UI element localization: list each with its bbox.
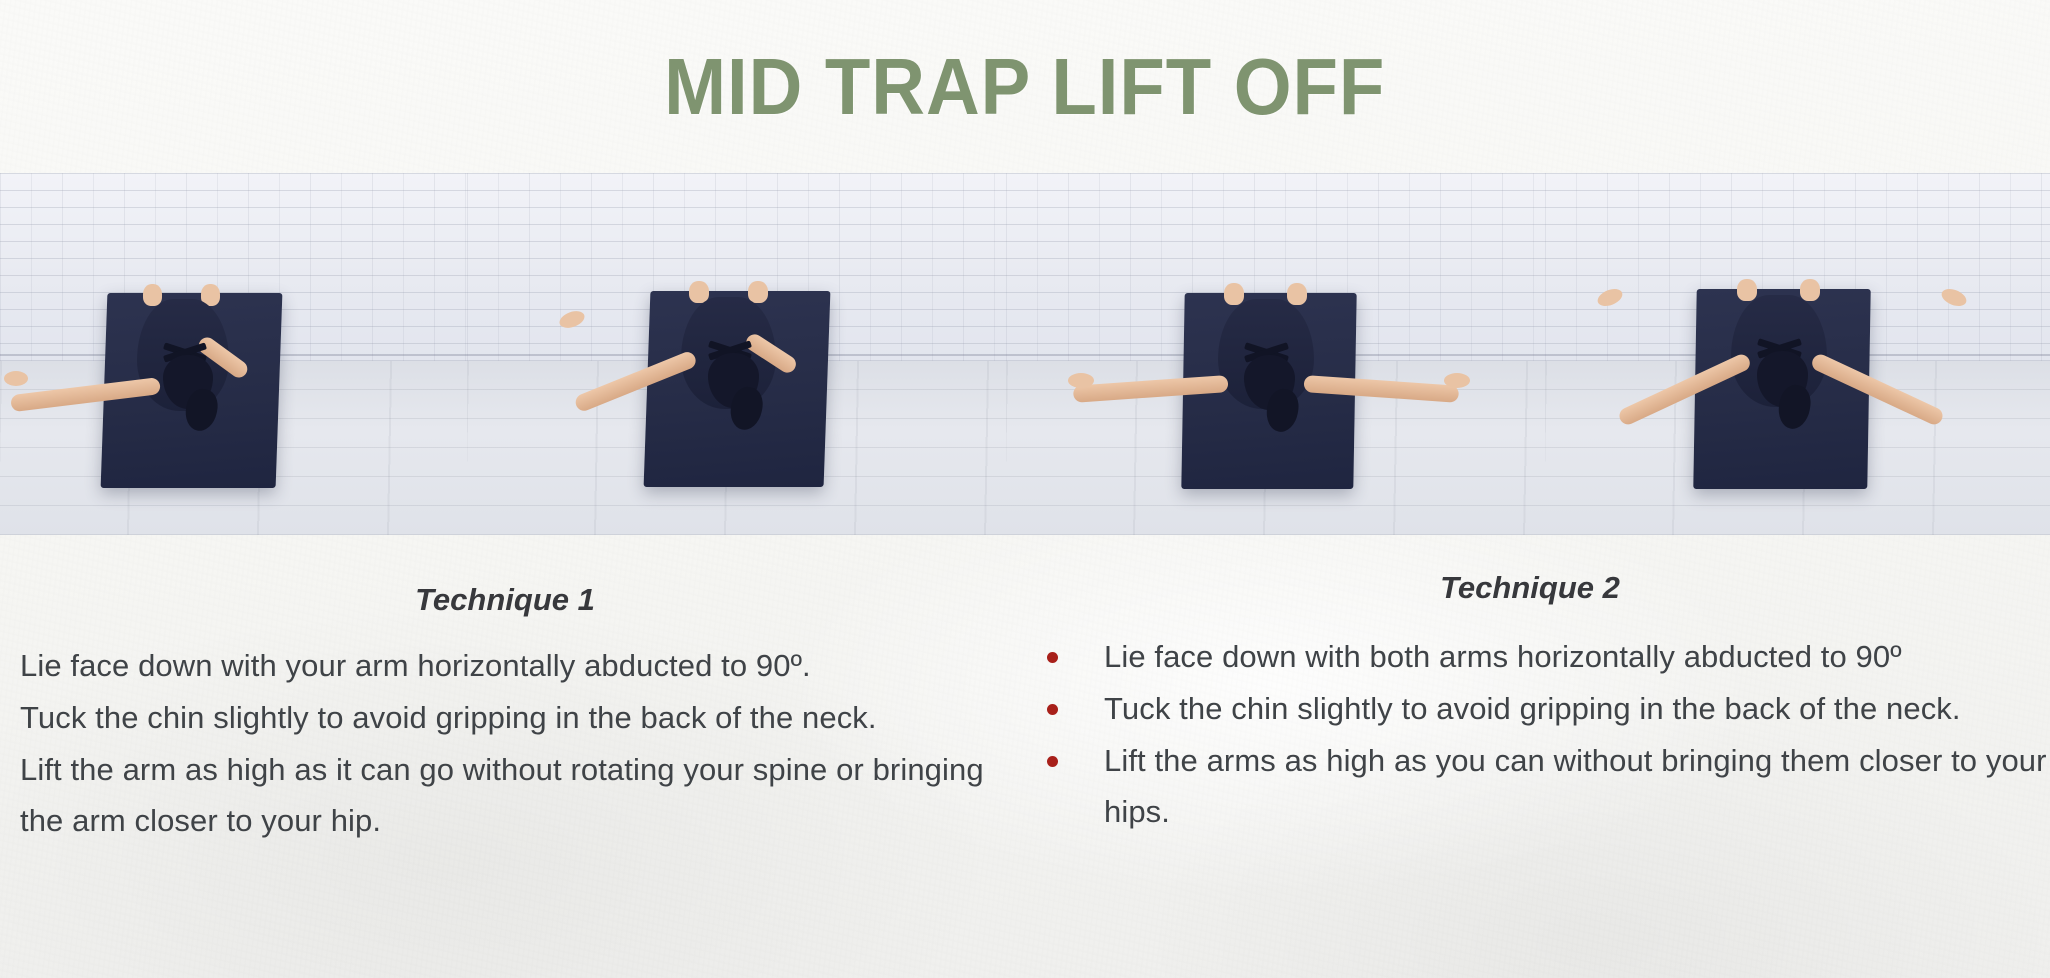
- photo-scene-1: [0, 173, 467, 535]
- right-foot-3: [1287, 283, 1307, 305]
- technique-2-step-1-text: Lie face down with both arms horizontall…: [1104, 639, 1902, 674]
- technique-2-step-3-text: Lift the arms as high as you can without…: [1104, 743, 2047, 830]
- technique-2-step-2: Tuck the chin slightly to avoid gripping…: [1047, 683, 2050, 735]
- technique-1-heading: Technique 1: [0, 582, 1010, 618]
- left-foot-3: [1224, 283, 1244, 305]
- page-title: MID TRAP LIFT OFF: [664, 47, 1385, 127]
- right-hand-3: [1444, 373, 1470, 388]
- photo-panel-2: [467, 173, 1006, 535]
- photo-scene-3: [1006, 173, 1545, 535]
- photo-scene-2: [467, 173, 1006, 535]
- technique-content: Technique 1 Lie face down with your arm …: [0, 535, 2050, 978]
- bullet-dot-icon: [1047, 756, 1058, 767]
- technique-1-step-list: Lie face down with your arm horizontally…: [0, 640, 1010, 847]
- photo-panel-3: [1006, 173, 1545, 535]
- title-bar: MID TRAP LIFT OFF: [0, 0, 2050, 173]
- bullet-dot-icon: [1047, 652, 1058, 663]
- technique-2-step-list: Lie face down with both arms horizontall…: [1010, 631, 2050, 838]
- left-foot-4: [1737, 279, 1757, 301]
- technique-2-step-2-text: Tuck the chin slightly to avoid gripping…: [1104, 691, 1961, 726]
- photo-strip: [0, 173, 2050, 535]
- technique-1-step-3: Lift the arm as high as it can go withou…: [20, 744, 1010, 848]
- technique-1-step-2: Tuck the chin slightly to avoid gripping…: [20, 692, 1010, 744]
- right-foot-4: [1800, 279, 1820, 301]
- bullet-dot-icon: [1047, 704, 1058, 715]
- left-hand-3: [1068, 373, 1094, 388]
- technique-2-step-3: Lift the arms as high as you can without…: [1047, 735, 2050, 839]
- technique-2-heading: Technique 2: [1010, 570, 2050, 606]
- slide-canvas: MID TRAP LIFT OFF: [0, 0, 2050, 978]
- technique-1-step-1: Lie face down with your arm horizontally…: [20, 640, 1010, 692]
- left-hand-1: [4, 371, 28, 386]
- technique-2-step-1: Lie face down with both arms horizontall…: [1047, 631, 2050, 683]
- technique-2-column: Technique 2 Lie face down with both arms…: [1010, 535, 2050, 838]
- photo-panel-4: [1545, 173, 2050, 535]
- right-foot-2: [748, 281, 768, 303]
- photo-scene-4: [1545, 173, 2050, 535]
- technique-1-column: Technique 1 Lie face down with your arm …: [0, 535, 1010, 847]
- photo-panel-1: [0, 173, 467, 535]
